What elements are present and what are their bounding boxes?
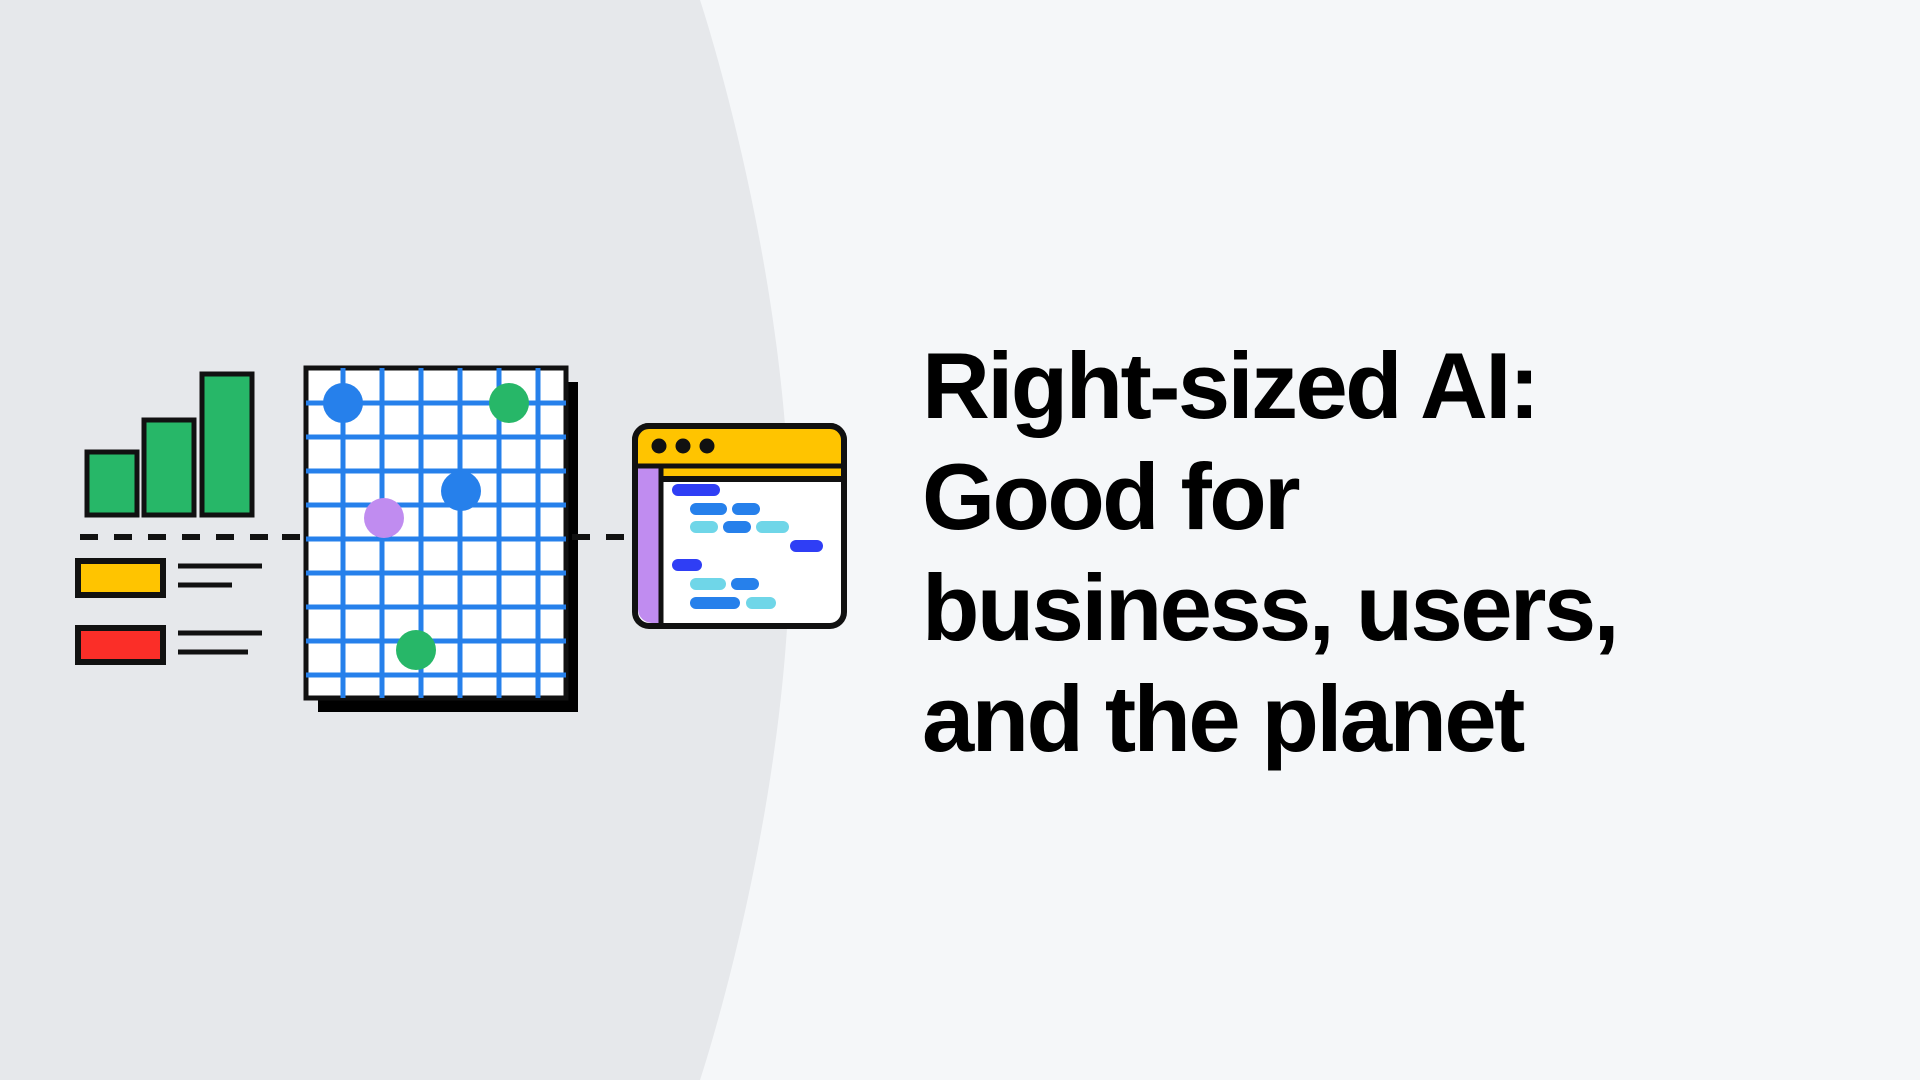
code-pill — [756, 521, 789, 533]
bar-large — [202, 374, 252, 515]
growth-bar-chart — [87, 374, 252, 515]
code-pill — [790, 540, 823, 552]
point-blue-2 — [441, 471, 481, 511]
hero-banner: Right-sized AI: Good for business, users… — [0, 0, 1920, 1080]
window-dot-icon-2 — [676, 439, 691, 454]
code-pill — [731, 578, 759, 590]
code-pill — [672, 484, 720, 496]
code-pill — [723, 521, 751, 533]
code-pill — [690, 578, 726, 590]
point-green-2 — [396, 630, 436, 670]
page-title: Right-sized AI: Good for business, users… — [922, 331, 1822, 775]
data-grid-scatter — [306, 368, 578, 712]
code-pill — [672, 559, 702, 571]
code-pill — [690, 597, 740, 609]
code-pill — [746, 597, 776, 609]
code-pill — [732, 503, 760, 515]
hero-illustration — [0, 0, 900, 1080]
bar-medium — [144, 420, 194, 515]
bar-small — [87, 452, 137, 515]
code-editor-window — [635, 426, 844, 626]
code-pill — [690, 503, 727, 515]
code-window-sidebar — [638, 466, 661, 623]
code-pill — [690, 521, 718, 533]
legend-yellow-swatch — [78, 561, 163, 595]
point-purple-1 — [364, 498, 404, 538]
point-blue-1 — [323, 383, 363, 423]
legend-red-swatch — [78, 628, 163, 662]
legend-yellow — [78, 561, 262, 595]
window-dot-icon-3 — [700, 439, 715, 454]
point-green-1 — [489, 383, 529, 423]
legend-red — [78, 628, 262, 662]
code-window-titlebar — [635, 426, 844, 479]
window-dot-icon-1 — [652, 439, 667, 454]
